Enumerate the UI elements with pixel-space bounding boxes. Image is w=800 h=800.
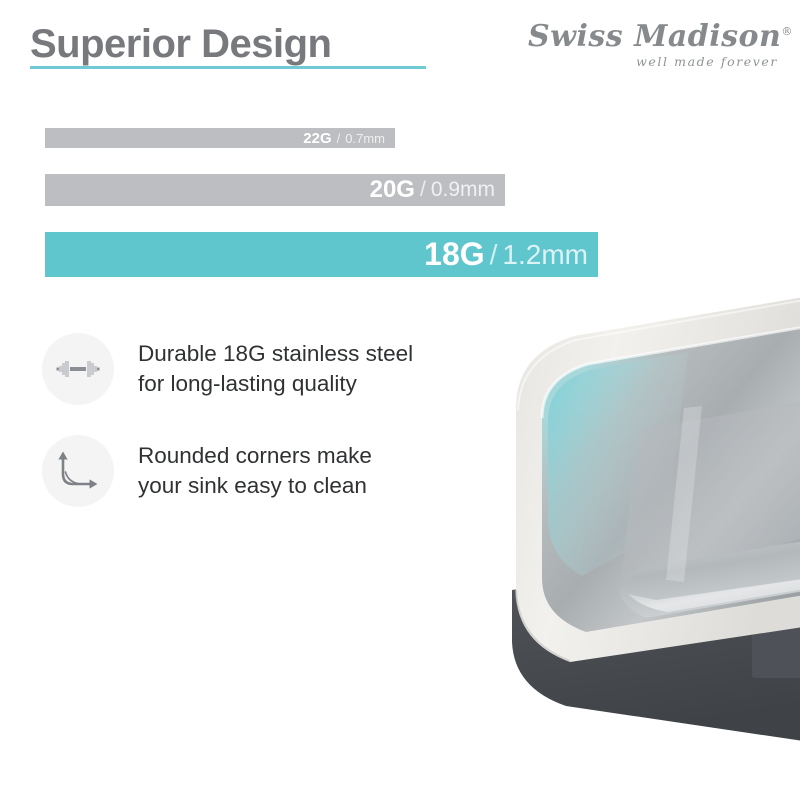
- feature-durability-line1: Durable 18G stainless steel: [138, 339, 413, 369]
- gauge-bar-22g: 22G / 0.7mm: [45, 128, 395, 148]
- gauge-bar-18g: 18G / 1.2mm: [45, 232, 598, 277]
- feature-corners-line2: your sink easy to clean: [138, 471, 372, 501]
- gauge-bar-18g-separator: /: [490, 239, 498, 271]
- infographic-canvas: Superior Design Swiss Madison® well made…: [0, 0, 800, 800]
- gauge-bar-18g-thickness: 1.2mm: [502, 239, 588, 271]
- gauge-bar-20g: 20G / 0.9mm: [45, 174, 505, 206]
- brand-logo: Swiss Madison® well made forever: [528, 22, 778, 78]
- gauge-bar-18g-label: 18G: [424, 236, 484, 273]
- stainless-steel-sink-photo: [470, 290, 800, 790]
- feature-item-rounded-corners: Rounded corners make your sink easy to c…: [42, 435, 472, 507]
- dumbbell-icon: [42, 333, 114, 405]
- gauge-bar-22g-label: 22G: [303, 130, 331, 147]
- page-title: Superior Design: [30, 22, 331, 67]
- gauge-bar-22g-separator: /: [337, 131, 341, 146]
- title-underline-rule: [30, 66, 426, 69]
- gauge-bar-20g-separator: /: [420, 178, 426, 202]
- gauge-comparison-chart: 22G / 0.7mm 20G / 0.9mm 18G / 1.2mm: [45, 128, 605, 277]
- feature-item-durability-text: Durable 18G stainless steel for long-las…: [138, 339, 413, 399]
- gauge-bar-22g-thickness: 0.7mm: [345, 131, 385, 146]
- registered-trademark-icon: ®: [781, 25, 793, 38]
- rounded-corner-arrow-icon: [42, 435, 114, 507]
- brand-logo-name: Swiss Madison: [528, 19, 781, 54]
- feature-durability-line2: for long-lasting quality: [138, 369, 413, 399]
- brand-logo-tagline: well made forever: [528, 54, 778, 69]
- feature-item-durability: Durable 18G stainless steel for long-las…: [42, 333, 472, 405]
- gauge-bar-20g-thickness: 0.9mm: [431, 178, 495, 202]
- brand-logo-wordmark: Swiss Madison®: [528, 22, 778, 52]
- feature-corners-line1: Rounded corners make: [138, 441, 372, 471]
- feature-item-rounded-corners-text: Rounded corners make your sink easy to c…: [138, 441, 372, 501]
- gauge-bar-20g-label: 20G: [370, 176, 415, 204]
- feature-list: Durable 18G stainless steel for long-las…: [42, 333, 472, 537]
